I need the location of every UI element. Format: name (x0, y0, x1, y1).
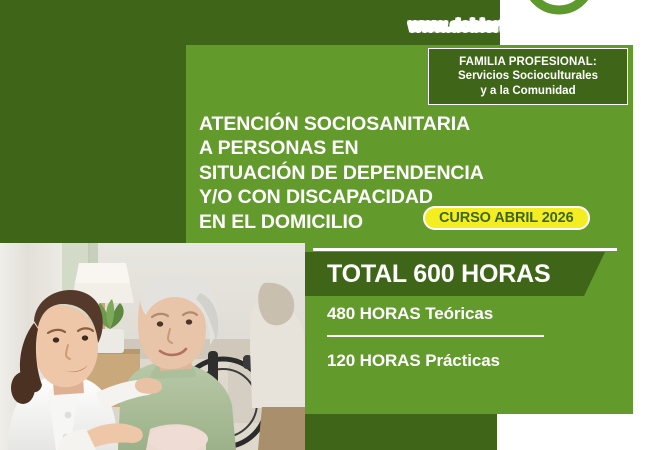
familia-profesional-box: FAMILIA PROFESIONAL: Servicios Sociocult… (428, 48, 628, 105)
circle-arc-logo-icon (503, 0, 615, 18)
course-poster: www.doblerformacion.com FAMILIA PROFESIO… (0, 0, 666, 450)
website-url[interactable]: www.doblerformacion.com (386, 17, 638, 36)
familia-profesional-line-1: Servicios Socioculturales (458, 69, 598, 83)
familia-profesional-title: FAMILIA PROFESIONAL: (459, 55, 597, 69)
hours-top-rule (313, 248, 617, 251)
course-title-line-3: SITUACIÓN DE DEPENDENCIA (199, 161, 484, 185)
familia-profesional-line-2: y a la Comunidad (480, 84, 575, 98)
curso-date-badge: CURSO ABRIL 2026 (423, 206, 590, 230)
total-hours-band: TOTAL 600 HORAS (305, 252, 605, 296)
theory-hours-label: 480 HORAS Teóricas (327, 304, 493, 324)
course-title-line-2: A PERSONAS EN (199, 136, 484, 160)
total-hours-label: TOTAL 600 HORAS (327, 260, 550, 289)
practice-hours-label: 120 HORAS Prácticas (327, 351, 500, 371)
course-title-line-1: ATENCIÓN SOCIOSANITARIA (199, 112, 484, 136)
caregiver-photo (0, 243, 305, 450)
background-bottom-dark-band (305, 414, 497, 450)
hours-divider-rule (327, 335, 544, 337)
